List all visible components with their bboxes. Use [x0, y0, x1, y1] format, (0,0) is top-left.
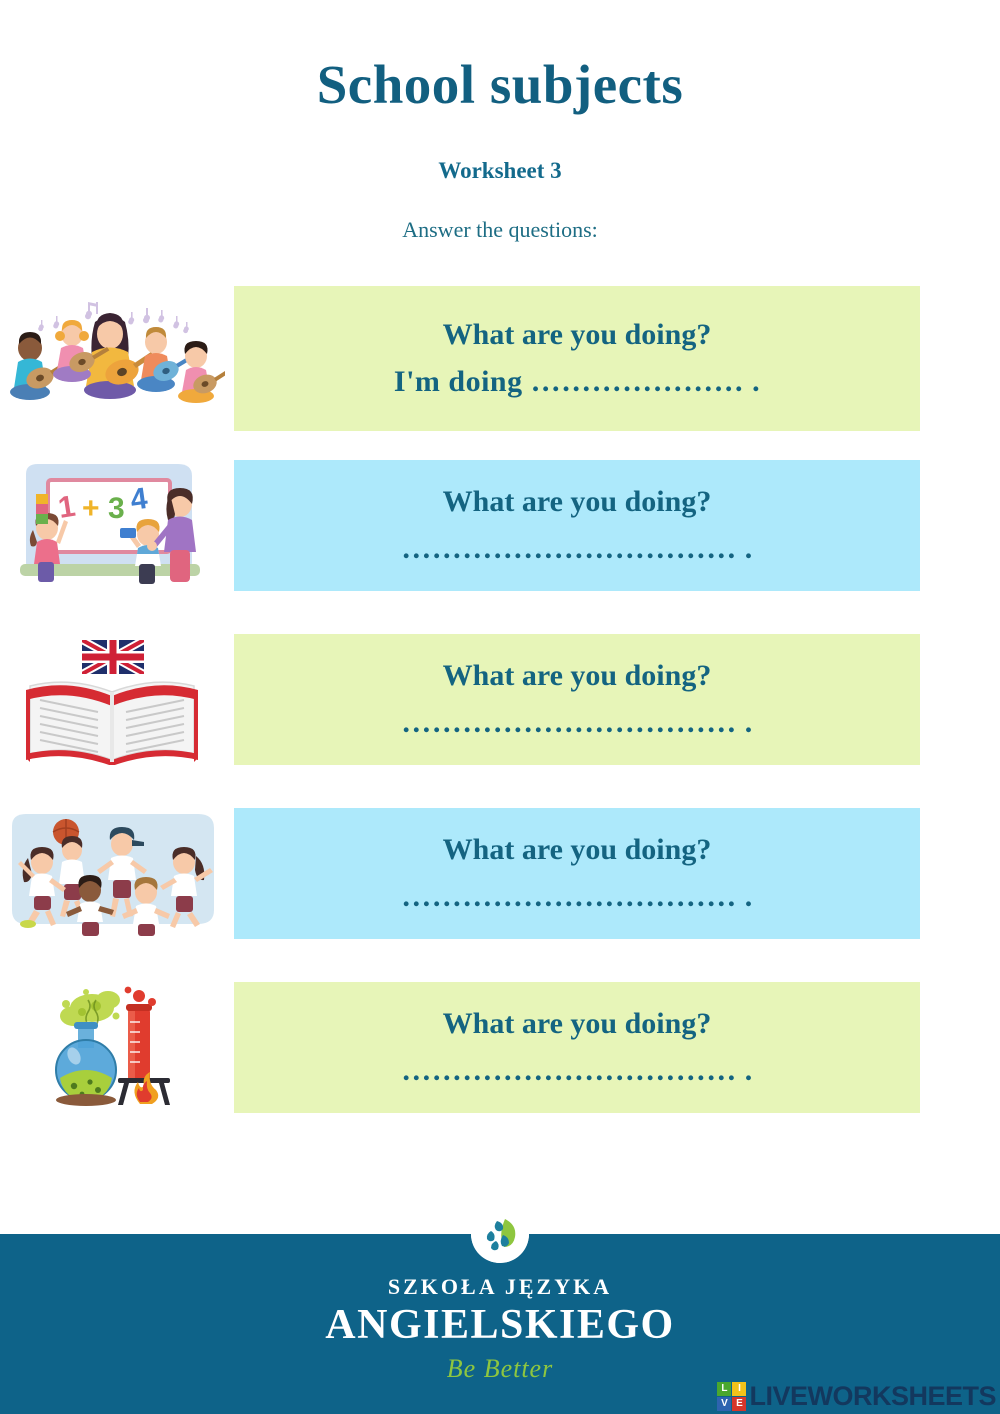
logo-tile-l: L [717, 1382, 731, 1396]
answer-line[interactable]: …………………………… . [401, 529, 753, 570]
question-row: What are you doing? …………………………… . [0, 982, 1000, 1113]
answer-panel[interactable]: What are you doing? …………………………… . [234, 982, 920, 1113]
logo-tile-e: E [732, 1397, 746, 1411]
question-text: What are you doing? [443, 1004, 712, 1045]
instruction-text: Answer the questions: [0, 217, 1000, 243]
worksheet-header: School subjects Worksheet 3 Answer the q… [0, 0, 1000, 243]
page-title: School subjects [0, 56, 1000, 114]
question-text: What are you doing? [443, 830, 712, 871]
answer-panel[interactable]: What are you doing? …………………………… . [234, 634, 920, 765]
children-playing-guitars-icon [0, 286, 225, 431]
svg-text:+: + [82, 492, 100, 525]
question-row: What are you doing? …………………………… . [0, 634, 1000, 765]
answer-line[interactable]: I'm doing ………………… . [394, 362, 760, 403]
logo-tile-i: I [732, 1382, 746, 1396]
logo-tile-v: V [717, 1397, 731, 1411]
question-row: 1 + 3 4 [0, 460, 1000, 591]
answer-panel[interactable]: What are you doing? …………………………… . [234, 460, 920, 591]
worksheet-subtitle: Worksheet 3 [0, 158, 1000, 184]
question-rows: What are you doing? I'm doing ………………… . … [0, 286, 1000, 1156]
leaf-droplet-emblem-icon [471, 1205, 529, 1263]
svg-text:3: 3 [108, 492, 125, 525]
children-playing-sports-icon [0, 808, 225, 939]
brand-main-line: ANGIELSKIEGO [0, 1302, 1000, 1348]
footer-branding-bar: SZKOŁA JĘZYKA ANGIELSKIEGO Be Better L I… [0, 1234, 1000, 1414]
liveworksheets-watermark[interactable]: L I V E LIVEWORKSHEETS [717, 1381, 996, 1412]
brand-top-line: SZKOŁA JĘZYKA [0, 1274, 1000, 1300]
chemistry-flask-experiment-icon [0, 982, 225, 1113]
question-text: What are you doing? [443, 482, 712, 523]
question-text: What are you doing? [443, 656, 712, 697]
answer-panel[interactable]: What are you doing? I'm doing ………………… . [234, 286, 920, 431]
liveworksheets-wordmark: LIVEWORKSHEETS [749, 1381, 996, 1412]
worksheet-page: School subjects Worksheet 3 Answer the q… [0, 0, 1000, 1414]
question-row: What are you doing? …………………………… . [0, 808, 1000, 939]
answer-line[interactable]: …………………………… . [401, 1051, 753, 1092]
union-jack-flag-open-book-icon [0, 634, 225, 765]
question-text: What are you doing? [443, 315, 712, 356]
brand-tagline: Be Better [0, 1354, 1000, 1384]
answer-line[interactable]: …………………………… . [401, 703, 753, 744]
answer-panel[interactable]: What are you doing? …………………………… . [234, 808, 920, 939]
live-logo-tiles: L I V E [717, 1382, 746, 1411]
question-row: What are you doing? I'm doing ………………… . [0, 286, 1000, 431]
children-at-whiteboard-maths-icon: 1 + 3 4 [0, 460, 225, 591]
answer-line[interactable]: …………………………… . [401, 877, 753, 918]
